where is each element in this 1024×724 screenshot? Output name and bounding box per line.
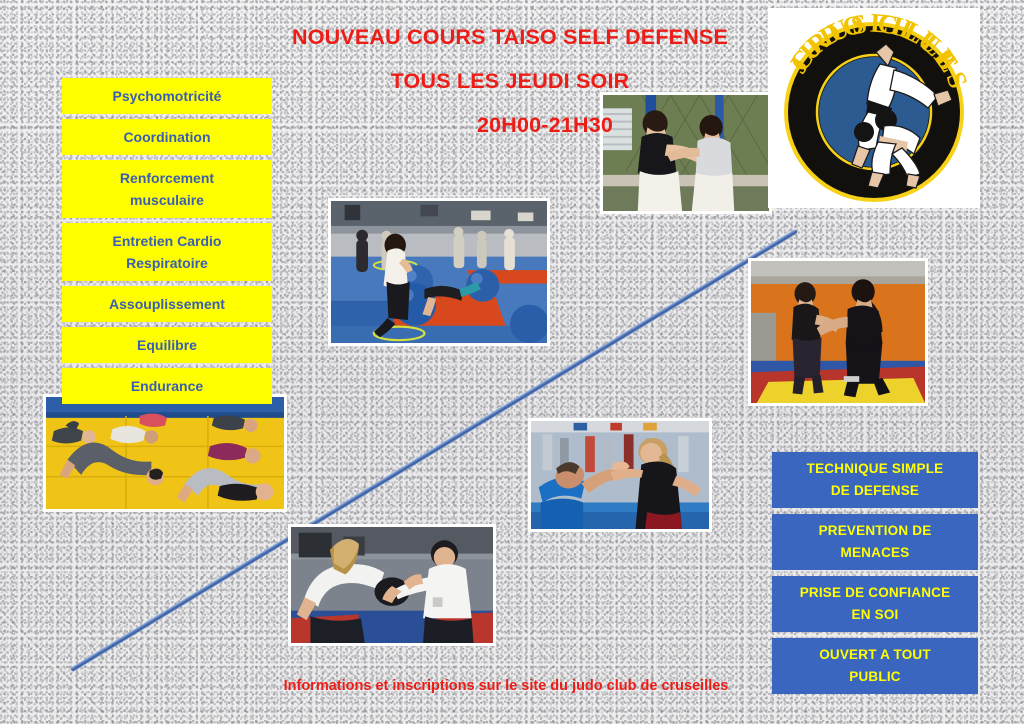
photo-ball-exercises — [328, 198, 550, 346]
headline-block: NOUVEAU COURS TAISO SELF DEFENSE TOUS LE… — [250, 22, 770, 140]
skill-label: Coordination — [123, 129, 210, 145]
photo-bridge-floor — [43, 394, 287, 512]
headline-line-1: NOUVEAU COURS TAISO SELF DEFENSE — [250, 22, 770, 52]
photo-partner-drill — [748, 258, 928, 406]
skill-item-entretien-cardio-respiratoire: Entretien Cardio Respiratoire — [62, 223, 272, 281]
headline-line-2: TOUS LES JEUDI SOIR — [250, 66, 770, 96]
judo-club-cruseilles-logo: JUDO CLUB CRUSEILLES — [768, 8, 980, 208]
skill-label: Renforcement — [66, 167, 268, 189]
skill-label: Equilibre — [137, 337, 197, 353]
benefit-label-second-line: EN SOI — [776, 604, 974, 626]
skill-label: Entretien Cardio — [66, 230, 268, 252]
benefit-label-second-line: DE DEFENSE — [776, 480, 974, 502]
skill-label: Assouplissement — [109, 296, 225, 312]
skills-list: Psychomotricité Coordination Renforcemen… — [62, 78, 272, 409]
skill-item-renforcement-musculaire: Renforcement musculaire — [62, 160, 272, 218]
footer-info-text: Informations et inscriptions sur le site… — [0, 678, 1024, 694]
benefit-label-second-line: MENACES — [776, 542, 974, 564]
benefit-label: TECHNIQUE SIMPLE — [776, 458, 974, 480]
benefit-label: PREVENTION DE — [776, 520, 974, 542]
skill-item-coordination: Coordination — [62, 119, 272, 155]
benefit-item-prise-de-confiance-en-soi: PRISE DE CONFIANCE EN SOI — [772, 576, 978, 632]
skill-label-second-line: musculaire — [66, 189, 268, 211]
skill-label: Endurance — [131, 378, 203, 394]
skill-label: Psychomotricité — [113, 88, 222, 104]
benefit-label: OUVERT A TOUT — [776, 644, 974, 666]
benefit-item-prevention-de-menaces: PREVENTION DE MENACES — [772, 514, 978, 570]
skill-label-second-line: Respiratoire — [66, 252, 268, 274]
benefit-item-technique-simple-de-defense: TECHNIQUE SIMPLE DE DEFENSE — [772, 452, 978, 508]
skill-item-assouplissement: Assouplissement — [62, 286, 272, 322]
benefits-list: TECHNIQUE SIMPLE DE DEFENSE PREVENTION D… — [772, 452, 978, 700]
photo-arm-lock — [288, 524, 496, 646]
photo-palm-strike — [528, 418, 712, 532]
skill-item-endurance: Endurance — [62, 368, 272, 404]
skill-item-equilibre: Equilibre — [62, 327, 272, 363]
benefit-label: PRISE DE CONFIANCE — [776, 582, 974, 604]
poster-canvas: NOUVEAU COURS TAISO SELF DEFENSE TOUS LE… — [0, 0, 1024, 724]
headline-line-3: 20H00-21H30 — [250, 110, 770, 140]
skill-item-psychomotricite: Psychomotricité — [62, 78, 272, 114]
